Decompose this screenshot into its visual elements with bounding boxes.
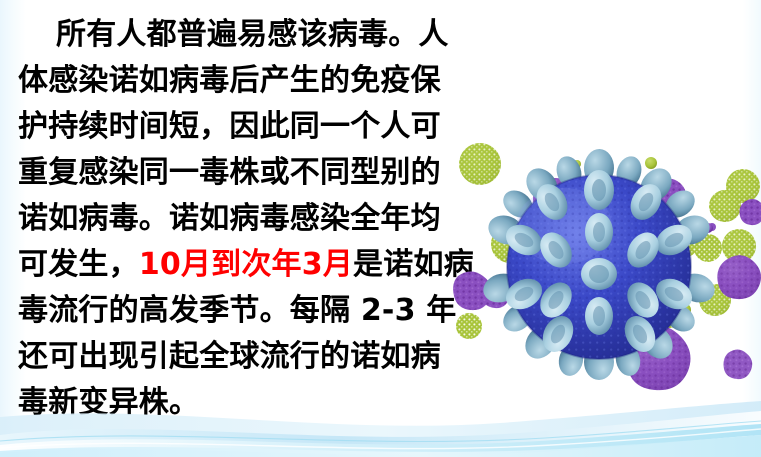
- body-text-span: 毒新变异株。: [18, 385, 199, 420]
- body-text-line: 可发生，10月到次年3月是诺如病: [18, 242, 448, 288]
- body-text-line: 护持续时间短，因此同一个人可: [18, 104, 448, 150]
- body-text-span: 可发生，: [18, 247, 139, 282]
- body-text-block: 所有人都普遍易感该病毒。人体感染诺如病毒后产生的免疫保护持续时间短，因此同一个人…: [18, 12, 448, 426]
- body-text-line: 毒流行的高发季节。每隔 2-3 年: [18, 288, 448, 334]
- body-text-span: 诺如病毒。诺如病毒感染全年均: [18, 201, 441, 236]
- illustration-svg: [438, 128, 761, 394]
- body-text-span: 护持续时间短，因此同一个人可: [18, 109, 441, 144]
- body-text-line: 毒新变异株。: [18, 380, 448, 426]
- body-text-span: 还可出现引起全球流行的诺如病: [18, 339, 441, 374]
- body-text-span: 所有人都普遍易感该病毒。人: [56, 17, 449, 52]
- highlighted-text-span: 10月到次年3月: [139, 247, 353, 282]
- body-text-span: 重复感染同一毒株或不同型别的: [18, 155, 441, 190]
- body-text-span: 体感染诺如病毒后产生的免疫保: [18, 63, 441, 98]
- body-text-line: 还可出现引起全球流行的诺如病: [18, 334, 448, 380]
- body-text-line: 诺如病毒。诺如病毒感染全年均: [18, 196, 448, 242]
- norovirus-illustration: [438, 128, 761, 394]
- body-text-span: 毒流行的高发季节。每隔 2-3 年: [18, 293, 457, 328]
- body-text-line: 重复感染同一毒株或不同型别的: [18, 150, 448, 196]
- body-text-line: 体感染诺如病毒后产生的免疫保: [18, 58, 448, 104]
- slide-canvas: 所有人都普遍易感该病毒。人体感染诺如病毒后产生的免疫保护持续时间短，因此同一个人…: [0, 0, 761, 457]
- body-text-line: 所有人都普遍易感该病毒。人: [18, 12, 448, 58]
